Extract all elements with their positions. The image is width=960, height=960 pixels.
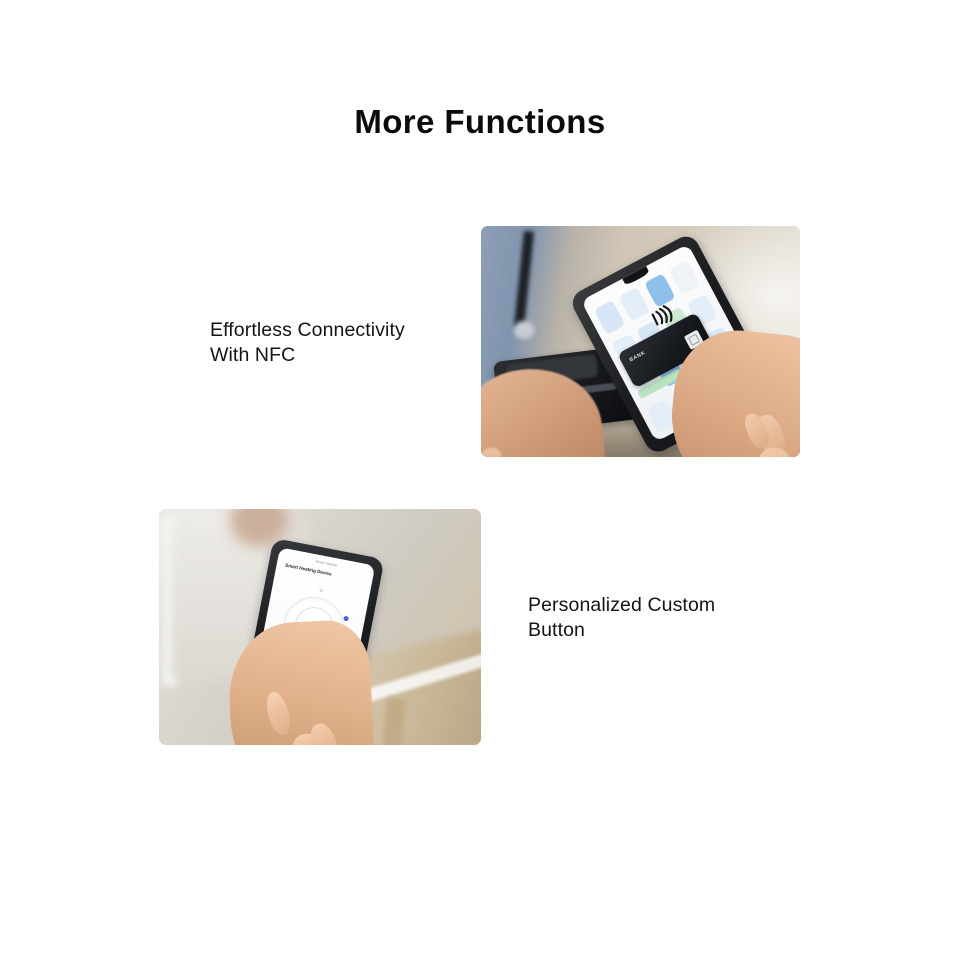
page-root: More Functions Effortless Connectivity W…	[0, 0, 960, 960]
feature-image-custom-button: Smart Heating Smart Heating Device 70°C	[159, 509, 481, 745]
nfc-photo-scene: BANK	[481, 226, 800, 457]
feature-image-nfc: BANK	[481, 226, 800, 457]
left-thumb	[481, 445, 506, 457]
feature-caption-custom-button: Personalized Custom Button	[528, 593, 788, 643]
thumb	[263, 690, 294, 738]
lanyard-badge	[514, 321, 533, 339]
app-icon	[644, 273, 675, 307]
page-title: More Functions	[0, 103, 960, 141]
feature-caption-nfc: Effortless Connectivity With NFC	[210, 318, 470, 368]
app-icon	[619, 287, 650, 321]
app-icon	[669, 260, 700, 294]
bank-card-label: BANK	[629, 349, 647, 362]
screen-status-text: Smart Heating	[315, 559, 337, 567]
finger	[306, 720, 342, 745]
app-icon	[594, 300, 625, 334]
smart-home-photo-scene: Smart Heating Smart Heating Device 70°C	[159, 509, 481, 745]
